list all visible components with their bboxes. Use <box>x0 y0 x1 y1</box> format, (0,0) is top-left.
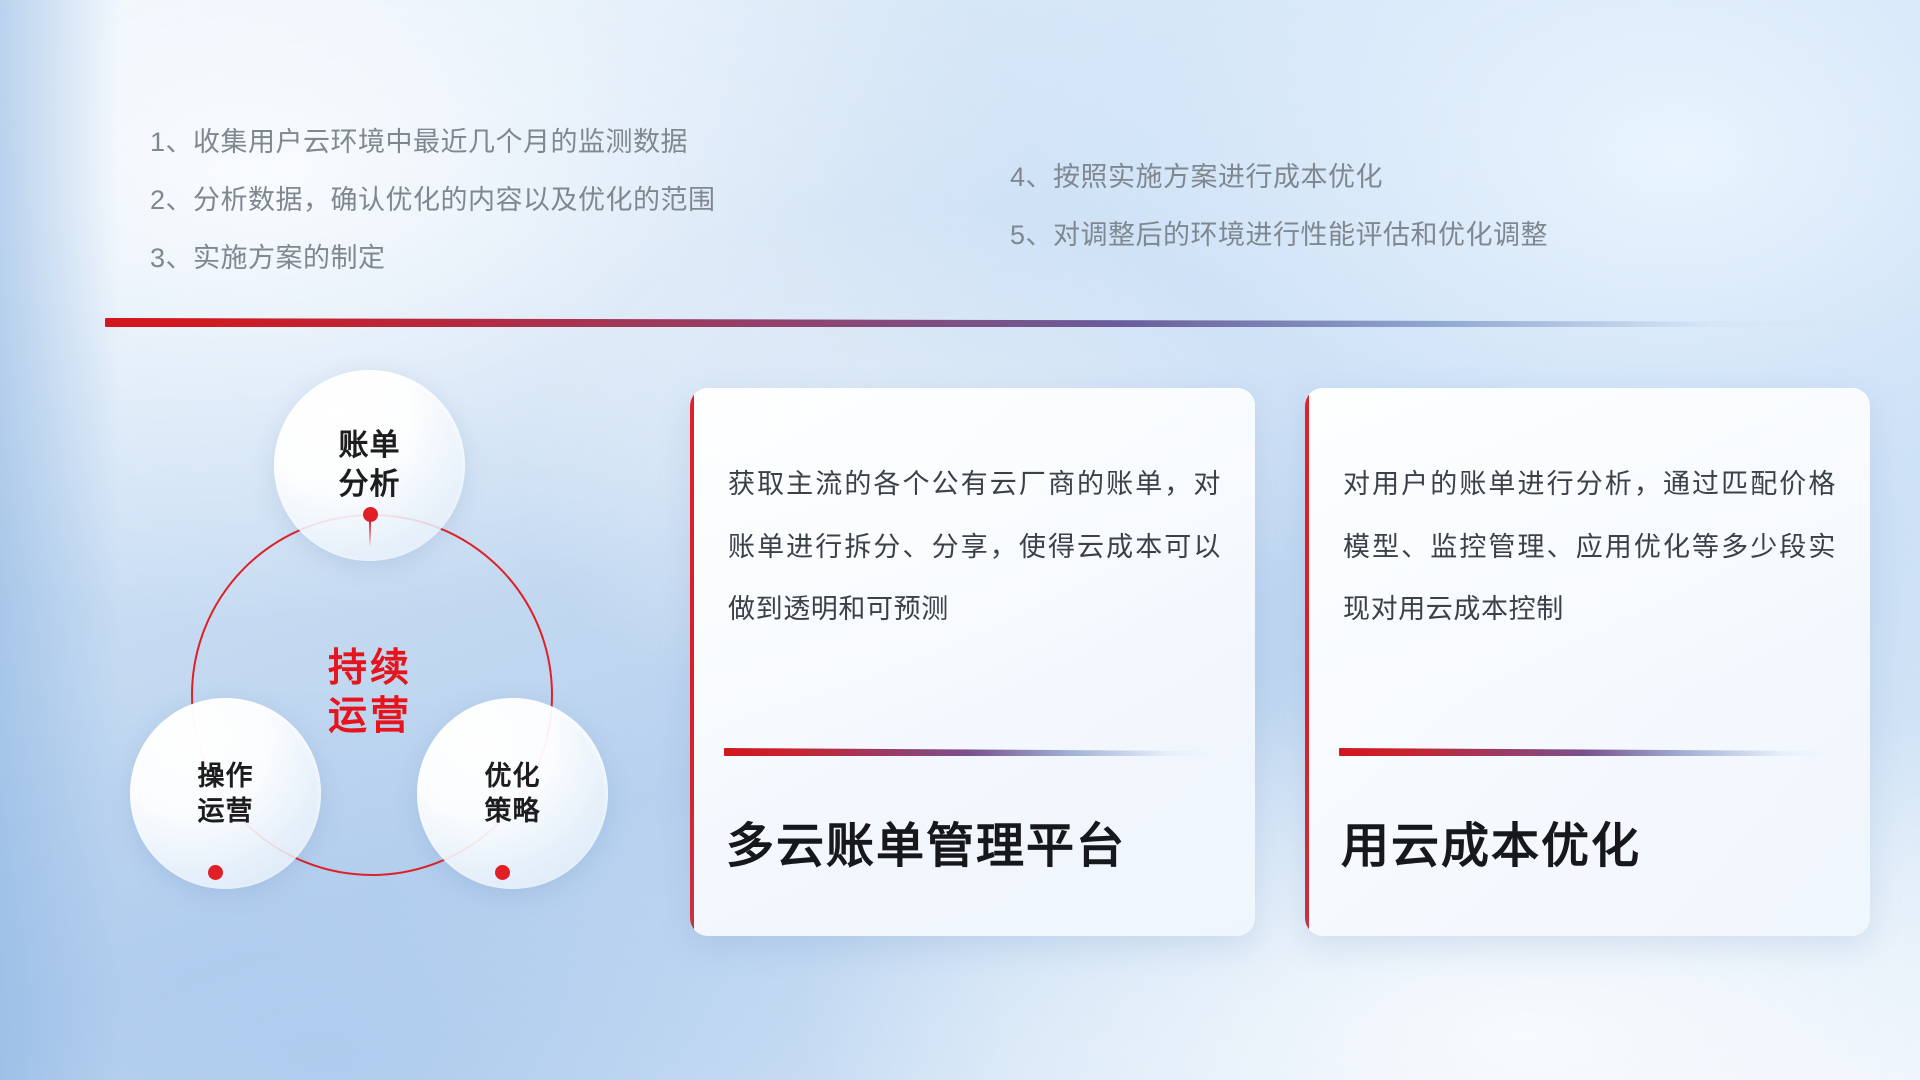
card-body-text: 对用户的账单进行分析，通过匹配价格模型、监控管理、应用优化等多少段实现对用云成本… <box>1343 453 1836 641</box>
step-item-4: 4、按照实施方案进行成本优化 <box>1010 155 1548 194</box>
step-item-3: 3、实施方案的制定 <box>150 236 716 275</box>
diagram-dot-bottom-right <box>495 865 510 880</box>
center-label-line-1: 持续 <box>328 645 412 693</box>
step-item-2: 2、分析数据，确认优化的内容以及优化的范围 <box>150 178 716 217</box>
center-label-line-2: 运营 <box>328 693 412 741</box>
step-item-5: 5、对调整后的环境进行性能评估和优化调整 <box>1010 213 1548 252</box>
card-title: 多云账单管理平台 <box>726 806 1126 876</box>
slide-canvas: 1、收集用户云环境中最近几个月的监测数据 2、分析数据，确认优化的内容以及优化的… <box>0 0 1920 1080</box>
section-divider <box>105 318 1850 327</box>
diagram-connector-top <box>369 521 371 547</box>
diagram-dot-top <box>363 507 378 522</box>
card-body-text: 获取主流的各个公有云厂商的账单，对账单进行拆分、分享，使得云成本可以做到透明和可… <box>728 453 1221 641</box>
label-line-1: 账单 <box>339 427 401 465</box>
step-item-1: 1、收集用户云环境中最近几个月的监测数据 <box>150 120 716 159</box>
steps-list-left: 1、收集用户云环境中最近几个月的监测数据 2、分析数据，确认优化的内容以及优化的… <box>150 120 716 294</box>
card-multi-cloud-billing-platform[interactable]: 获取主流的各个公有云厂商的账单，对账单进行拆分、分享，使得云成本可以做到透明和可… <box>690 388 1255 936</box>
card-accent-rule <box>1339 748 1831 756</box>
steps-list-right: 4、按照实施方案进行成本优化 5、对调整后的环境进行性能评估和优化调整 <box>1010 155 1548 271</box>
card-accent-rule <box>724 748 1216 756</box>
diagram-center-label: 持续 运营 <box>191 514 549 872</box>
card-title: 用云成本优化 <box>1341 806 1641 876</box>
label-line-2: 分析 <box>339 466 401 504</box>
divider-bar <box>105 318 1850 327</box>
cycle-diagram: 账单 分析 操作 运营 优化 策略 持续 运营 <box>95 355 635 955</box>
card-cloud-cost-optimization[interactable]: 对用户的账单进行分析，通过匹配价格模型、监控管理、应用优化等多少段实现对用云成本… <box>1305 388 1870 936</box>
diagram-dot-bottom-left <box>208 865 223 880</box>
